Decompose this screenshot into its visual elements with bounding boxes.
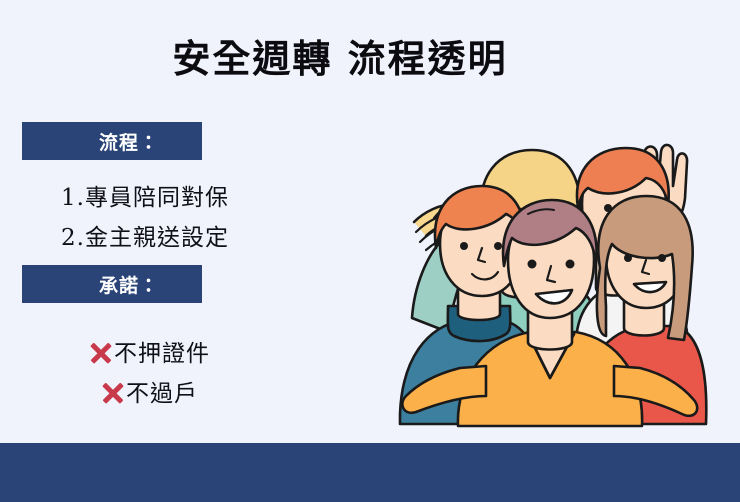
promise-item: 不押證件: [0, 334, 300, 374]
group-of-five-people-illustration: [390, 128, 710, 428]
x-mark-icon: [102, 382, 124, 404]
page-title: 安全週轉 流程透明: [0, 28, 680, 83]
promise-item: 不過戶: [0, 374, 300, 414]
process-item: 1.專員陪同對保: [0, 178, 290, 218]
section-label-promise: 承諾：: [22, 265, 202, 303]
process-item: 2.金主親送設定: [0, 218, 290, 258]
section-label-process: 流程：: [22, 122, 202, 160]
slide-canvas: 安全週轉 流程透明 流程： 1.專員陪同對保 2.金主親送設定 承諾： 不押證件…: [0, 0, 740, 502]
promise-item-list: 不押證件 不過戶: [0, 334, 300, 414]
x-mark-icon: [90, 342, 112, 364]
section-label-process-text: 流程：: [99, 128, 159, 155]
bottom-bar: [0, 443, 740, 502]
promise-item-text: 不押證件: [114, 341, 210, 367]
promise-item-text: 不過戶: [126, 381, 198, 407]
process-item-list: 1.專員陪同對保 2.金主親送設定: [0, 178, 290, 258]
section-label-promise-text: 承諾：: [99, 271, 159, 298]
